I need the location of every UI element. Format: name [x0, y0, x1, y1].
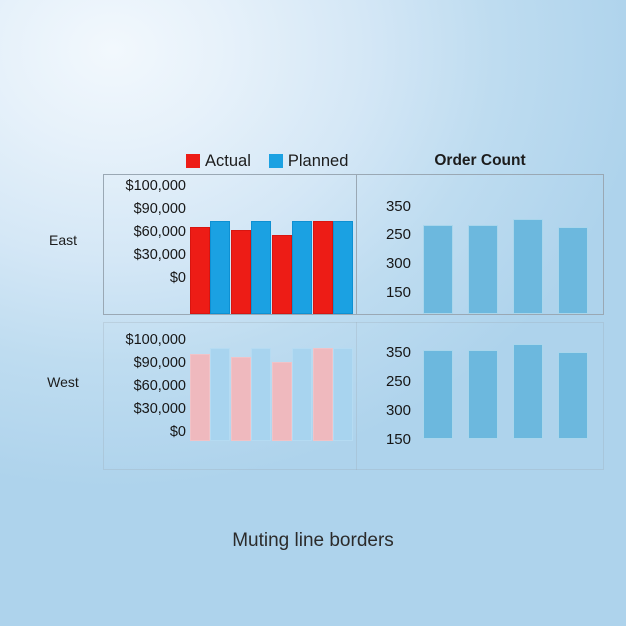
y-tick-label: $90,000 — [134, 356, 186, 371]
bar-planned[interactable] — [333, 221, 353, 314]
y-tick-label: $100,000 — [126, 333, 186, 348]
panel-west-order-count: 350 250 300 150 — [356, 322, 604, 470]
bar-order-count[interactable] — [558, 352, 588, 439]
bar-order-count[interactable] — [558, 227, 588, 314]
bar-actual[interactable] — [231, 357, 251, 441]
legend-label-actual: Actual — [205, 153, 251, 170]
bar-actual[interactable] — [231, 230, 251, 314]
chart-legend: Actual Planned — [186, 150, 348, 172]
y-tick-label: 150 — [386, 432, 411, 447]
bar-cluster — [272, 343, 313, 441]
bar-cluster — [415, 216, 460, 314]
bar-order-count[interactable] — [513, 344, 543, 439]
bar-cluster — [460, 341, 505, 439]
bar-actual[interactable] — [272, 362, 292, 441]
bar-cluster — [460, 216, 505, 314]
legend-entry-planned[interactable]: Planned — [269, 153, 349, 170]
y-tick-label: 150 — [386, 285, 411, 300]
bar-actual[interactable] — [272, 235, 292, 314]
bar-cluster — [415, 341, 460, 439]
y-axis-east-revenue: $100,000 $90,000 $60,000 $30,000 $0 — [104, 175, 188, 314]
bar-cluster — [190, 343, 231, 441]
y-tick-label: $30,000 — [134, 402, 186, 417]
y-axis-east-order-count: 350 250 300 150 — [357, 175, 413, 314]
bar-planned[interactable] — [251, 348, 271, 441]
bar-planned[interactable] — [210, 221, 230, 314]
bar-cluster — [550, 341, 595, 439]
dashboard-canvas: Actual Planned Order Count East West $10… — [0, 0, 626, 626]
bar-order-count[interactable] — [468, 225, 498, 314]
bar-cluster — [312, 343, 353, 441]
bar-order-count[interactable] — [423, 225, 453, 314]
bar-cluster — [190, 216, 231, 314]
bar-order-count[interactable] — [468, 350, 498, 439]
plot-area-east-revenue — [190, 216, 353, 314]
bar-order-count[interactable] — [513, 219, 543, 314]
y-tick-label: $60,000 — [134, 379, 186, 394]
bar-planned[interactable] — [251, 221, 271, 314]
bar-cluster — [312, 216, 353, 314]
bar-actual[interactable] — [313, 221, 333, 314]
bar-cluster — [550, 216, 595, 314]
bar-cluster — [231, 216, 272, 314]
bar-cluster — [231, 343, 272, 441]
y-tick-label: $60,000 — [134, 225, 186, 240]
y-tick-label: 350 — [386, 345, 411, 360]
y-tick-label: 350 — [386, 199, 411, 214]
row-label-west: West — [28, 374, 98, 390]
bar-actual[interactable] — [313, 348, 333, 441]
bar-planned[interactable] — [292, 221, 312, 314]
panel-east-order-count: 350 250 300 150 — [356, 174, 604, 315]
order-count-column-title: Order Count — [356, 152, 604, 170]
y-tick-label: $100,000 — [126, 179, 186, 194]
bar-cluster — [505, 216, 550, 314]
panel-east-revenue: $100,000 $90,000 $60,000 $30,000 $0 — [103, 174, 357, 315]
bar-planned[interactable] — [292, 348, 312, 441]
bar-planned[interactable] — [333, 348, 353, 441]
legend-label-planned: Planned — [288, 153, 349, 170]
y-tick-label: $0 — [170, 425, 186, 440]
y-tick-label: 250 — [386, 227, 411, 242]
bar-cluster — [272, 216, 313, 314]
y-tick-label: $90,000 — [134, 202, 186, 217]
plot-area-west-revenue — [190, 343, 353, 441]
y-tick-label: 300 — [386, 403, 411, 418]
y-tick-label: $30,000 — [134, 248, 186, 263]
bar-actual[interactable] — [190, 354, 210, 441]
y-tick-label: $0 — [170, 271, 186, 286]
bar-order-count[interactable] — [423, 350, 453, 439]
blue-square-swatch-icon — [269, 154, 283, 168]
bar-actual[interactable] — [190, 227, 210, 314]
panel-west-revenue: $100,000 $90,000 $60,000 $30,000 $0 — [103, 322, 357, 470]
y-axis-west-revenue: $100,000 $90,000 $60,000 $30,000 $0 — [104, 323, 188, 469]
legend-entry-actual[interactable]: Actual — [186, 153, 251, 170]
bar-cluster — [505, 341, 550, 439]
y-tick-label: 300 — [386, 256, 411, 271]
red-square-swatch-icon — [186, 154, 200, 168]
plot-area-west-order-count — [415, 341, 595, 439]
bar-planned[interactable] — [210, 348, 230, 441]
y-axis-west-order-count: 350 250 300 150 — [357, 323, 413, 469]
y-tick-label: 250 — [386, 374, 411, 389]
plot-area-east-order-count — [415, 216, 595, 314]
row-label-east: East — [28, 232, 98, 248]
figure-caption: Muting line borders — [0, 530, 626, 552]
